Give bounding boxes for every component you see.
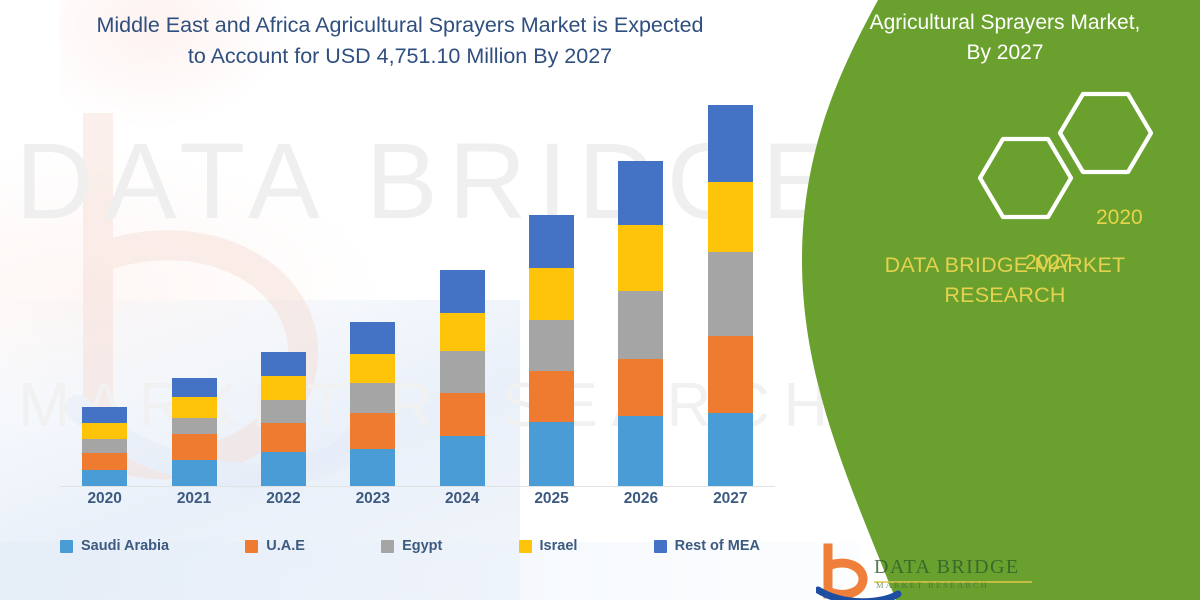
bar-group (515, 90, 589, 486)
bar-segment (172, 418, 217, 434)
bar-segment (440, 313, 485, 352)
bar-segment (529, 320, 574, 371)
bar-segment (618, 161, 663, 225)
bar-segment (82, 439, 127, 453)
legend-item[interactable]: Rest of MEA (654, 538, 760, 554)
x-axis-label: 2023 (336, 490, 410, 508)
panel-title-line-2: By 2027 (830, 38, 1180, 68)
bar-group (336, 90, 410, 486)
bar-group (157, 90, 231, 486)
bar-segment (261, 423, 306, 452)
x-axis-label: 2025 (515, 490, 589, 508)
bar-series-container (60, 90, 775, 486)
bar-segment (172, 397, 217, 417)
bar-segment (350, 413, 395, 448)
legend-label: Israel (540, 538, 578, 554)
bar-group (604, 90, 678, 486)
legend-item[interactable]: Egypt (381, 538, 442, 554)
bar-segment (708, 413, 753, 486)
legend-label: Egypt (402, 538, 442, 554)
bar-segment (350, 449, 395, 486)
panel-title-line-1: Agricultural Sprayers Market, (830, 8, 1180, 38)
legend-swatch-icon (654, 540, 667, 553)
legend-swatch-icon (381, 540, 394, 553)
bar-segment (618, 416, 663, 486)
panel-title: Agricultural Sprayers Market, By 2027 (830, 8, 1180, 68)
bar-group (68, 90, 142, 486)
infographic-canvas: DATA BRIDGE MARKET RESEARCH Middle East … (0, 0, 1200, 600)
stacked-bar-chart: 20202021202220232024202520262027 (0, 90, 800, 490)
bar-stack (82, 407, 127, 486)
dbmr-logo-word: DATA BRIDGE (874, 556, 1019, 579)
legend-label: U.A.E (266, 538, 305, 554)
bar-segment (261, 352, 306, 376)
legend-swatch-icon (519, 540, 532, 553)
bar-segment (350, 354, 395, 383)
bar-stack (172, 378, 217, 486)
bar-segment (350, 322, 395, 354)
bar-segment (440, 351, 485, 393)
legend-item[interactable]: Saudi Arabia (60, 538, 169, 554)
title-line-1: Middle East and Africa Agricultural Spra… (40, 10, 760, 41)
bar-stack (350, 322, 395, 486)
bar-segment (82, 407, 127, 423)
page-title: Middle East and Africa Agricultural Spra… (0, 10, 800, 72)
bar-segment (708, 336, 753, 413)
bar-segment (440, 270, 485, 313)
bar-segment (82, 423, 127, 439)
bar-segment (440, 436, 485, 486)
bar-group (425, 90, 499, 486)
bar-segment (172, 434, 217, 461)
x-axis-label: 2021 (157, 490, 231, 508)
legend-label: Saudi Arabia (81, 538, 169, 554)
bar-segment (618, 225, 663, 291)
bar-stack (708, 105, 753, 486)
bar-segment (529, 215, 574, 267)
bar-stack (261, 352, 306, 486)
bar-stack (618, 161, 663, 486)
bar-segment (172, 460, 217, 486)
legend-swatch-icon (245, 540, 258, 553)
chart-plot-area (60, 90, 780, 487)
legend-label: Rest of MEA (675, 538, 760, 554)
title-line-2: to Account for USD 4,751.10 Million By 2… (40, 41, 760, 72)
bar-segment (708, 105, 753, 182)
legend-item[interactable]: Israel (519, 538, 578, 554)
hexagon-badges: 2020 2027 (900, 88, 1190, 238)
bar-segment (708, 182, 753, 252)
legend-swatch-icon (60, 540, 73, 553)
dbmr-logo-subtitle: MARKET RESEARCH (876, 580, 989, 590)
bar-segment (440, 393, 485, 436)
chart-legend: Saudi ArabiaU.A.EEgyptIsraelRest of MEA (60, 538, 780, 554)
bar-group (693, 90, 767, 486)
bar-segment (708, 252, 753, 337)
green-side-panel: Agricultural Sprayers Market, By 2027 20… (800, 0, 1200, 600)
x-axis-label: 2024 (425, 490, 499, 508)
bar-segment (82, 453, 127, 470)
bar-segment (350, 383, 395, 413)
bar-segment (172, 378, 217, 397)
x-axis-label: 2022 (246, 490, 320, 508)
hexagon-outline-icon (900, 88, 1190, 238)
bar-segment (618, 359, 663, 417)
bar-stack (529, 215, 574, 486)
x-axis-line (60, 486, 775, 487)
brand-name-line-1: DATA BRIDGE MARKET (830, 250, 1180, 280)
green-panel-content: Agricultural Sprayers Market, By 2027 20… (800, 0, 1200, 600)
bar-segment (529, 268, 574, 320)
bar-segment (529, 371, 574, 421)
bar-segment (261, 400, 306, 422)
bar-segment (618, 291, 663, 358)
bar-group (246, 90, 320, 486)
x-axis-label: 2027 (693, 490, 767, 508)
bar-segment (529, 422, 574, 486)
bar-segment (261, 376, 306, 401)
dbmr-logo: DATA BRIDGE MARKET RESEARCH (816, 542, 1066, 600)
x-axis-label: 2020 (68, 490, 142, 508)
bar-segment (82, 470, 127, 486)
x-axis-tick-labels: 20202021202220232024202520262027 (60, 490, 775, 508)
legend-item[interactable]: U.A.E (245, 538, 305, 554)
brand-name-line-2: RESEARCH (830, 280, 1180, 310)
bar-segment (261, 452, 306, 486)
x-axis-label: 2026 (604, 490, 678, 508)
brand-name: DATA BRIDGE MARKET RESEARCH (830, 250, 1180, 310)
bar-stack (440, 270, 485, 486)
